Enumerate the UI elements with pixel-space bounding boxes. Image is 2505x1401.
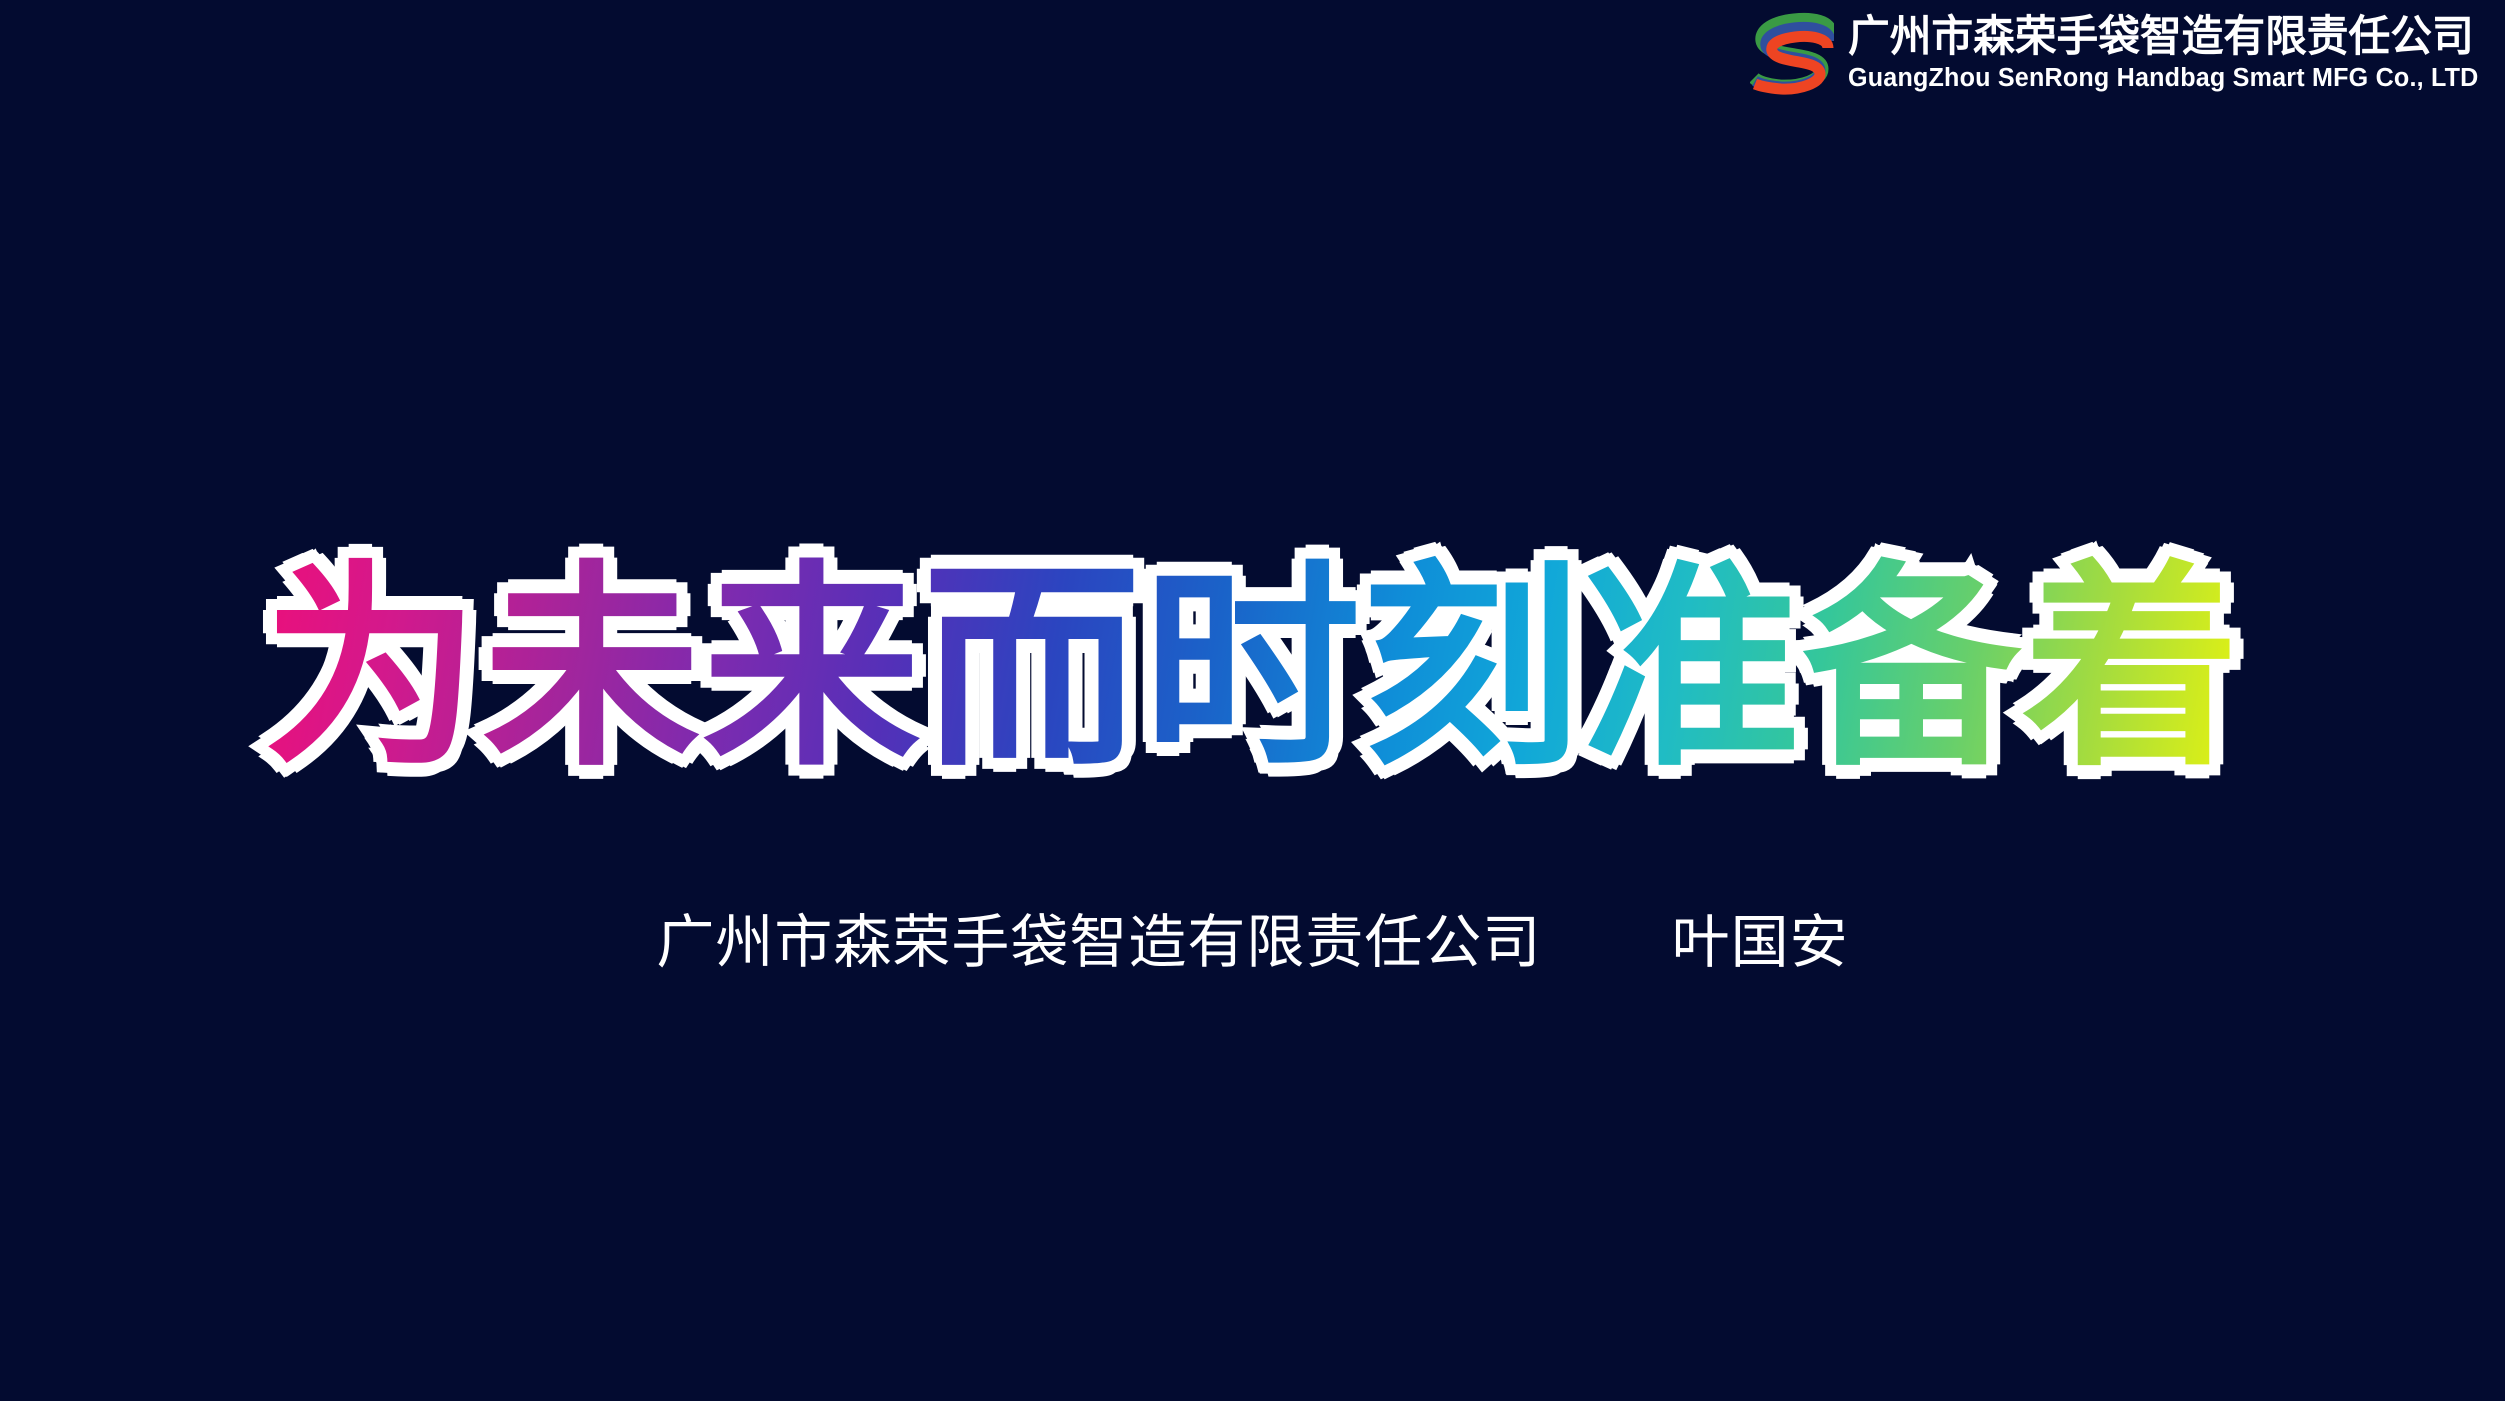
brand-company-name-en: GuangZhou SenRong Handbag Smart MFG Co.,… <box>1848 66 2479 92</box>
slide-subtitle: 广州市森荣手袋智造有限责任公司 叶国安 <box>0 895 2505 979</box>
subtitle-company: 广州市森荣手袋智造有限责任公司 <box>656 910 1541 975</box>
brand-text-block: 广州市森荣手袋智造有限责任公司 GuangZhou SenRong Handba… <box>1848 16 2493 92</box>
slide-title-fill: 为未来而时刻准备着 <box>263 543 2243 796</box>
presentation-slide: 广州市森荣手袋智造有限责任公司 GuangZhou SenRong Handba… <box>0 0 2505 1401</box>
brand-company-name-cn: 广州市森荣手袋智造有限责任公司 <box>1848 16 2474 59</box>
slide-title: 为未来而时刻准备着 为未来而时刻准备着 <box>263 545 2243 796</box>
senrong-s-logo-icon <box>1750 8 1834 100</box>
title-container: 为未来而时刻准备着 为未来而时刻准备着 <box>0 545 2505 796</box>
subtitle-presenter: 叶国安 <box>1672 910 1849 975</box>
brand-lockup: 广州市森荣手袋智造有限责任公司 GuangZhou SenRong Handba… <box>1750 8 2493 100</box>
